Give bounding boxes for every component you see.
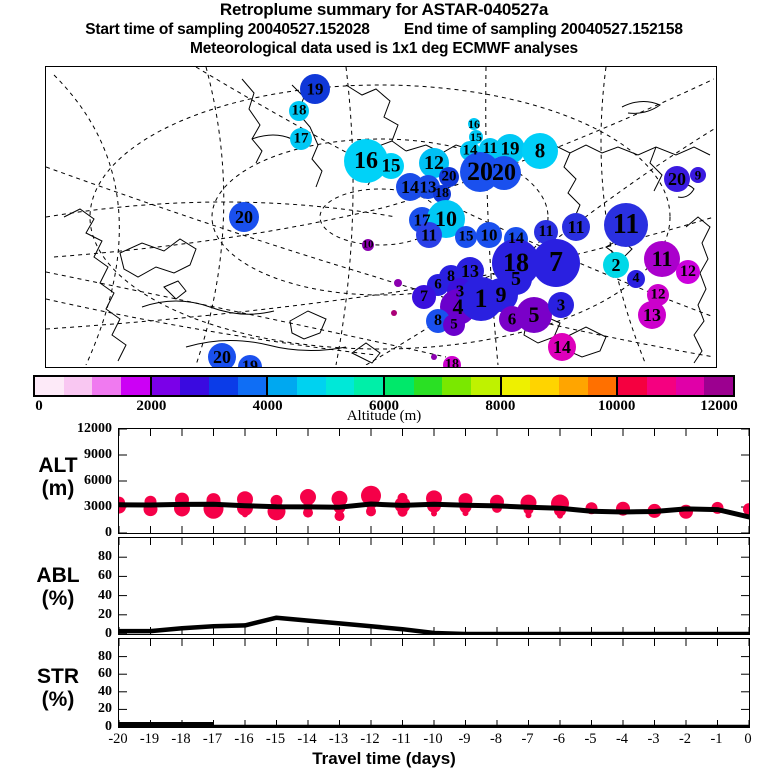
colorbar-segment [471, 377, 500, 395]
colorbar-segment [209, 377, 238, 395]
x-axis-tick: -3 [647, 731, 659, 748]
map-bubble-label: 5 [529, 304, 540, 326]
map-bubble-layer: 1918171615122014131816151411198202020920… [46, 67, 716, 367]
map-bubble-label: 3 [557, 297, 566, 314]
colorbar-segment [92, 377, 121, 395]
map-bubble-label: 5 [450, 318, 458, 333]
map-bubble [431, 354, 437, 360]
map-bubble-label: 15 [382, 157, 401, 176]
alt-scatter-point [242, 511, 248, 517]
map-bubble-label: 10 [435, 208, 457, 230]
altitude-colorbar[interactable] [33, 375, 735, 397]
y-axis-tick: 20 [56, 701, 112, 717]
colorbar-segment [121, 377, 150, 395]
colorbar-segment [530, 377, 559, 395]
map-bubble-label: 15 [459, 230, 474, 245]
sampling-time-line: Start time of sampling 20040527.152028 E… [0, 20, 768, 39]
colorbar-axis-label: Altitude (m) [0, 408, 768, 425]
y-axis-tick: 40 [56, 684, 112, 700]
colorbar-segment [500, 377, 531, 395]
str-chart-panel[interactable] [118, 638, 750, 728]
end-time-label: End time of sampling 20040527.152158 [404, 21, 683, 38]
map-bubble-label: 14 [401, 178, 419, 196]
colorbar-segment [354, 377, 383, 395]
y-axis-tick: 9000 [56, 447, 112, 463]
page-title: Retroplume summary for ASTAR-040527a [0, 0, 768, 20]
map-bubble-label: 5 [511, 269, 521, 289]
map-bubble-label: 20 [492, 161, 516, 185]
colorbar-segment [238, 377, 267, 395]
alt-scatter-point [431, 511, 437, 517]
x-axis-tick: -17 [203, 731, 222, 748]
map-bubble-label: 11 [652, 248, 673, 270]
map-bubble-label: 4 [633, 272, 640, 286]
map-bubble-label: 9 [695, 169, 702, 182]
map-bubble-label: 17 [294, 132, 309, 147]
colorbar-segment [383, 377, 414, 395]
colorbar-segment [266, 377, 297, 395]
y-axis-tick: 40 [56, 588, 112, 604]
map-bubble-label: 8 [447, 269, 455, 285]
map-bubble-label: 18 [292, 104, 307, 119]
map-bubble-label: 11 [613, 211, 639, 239]
colorbar-segment [414, 377, 443, 395]
title-block: Retroplume summary for ASTAR-040527a Sta… [0, 0, 768, 58]
alt-chart-panel[interactable] [118, 428, 750, 534]
map-bubble-label: 1 [475, 286, 488, 312]
map-bubble-label: 19 [307, 81, 324, 98]
colorbar-segment [150, 377, 181, 395]
alt-scatter-point [526, 512, 532, 518]
x-axis-tick: -12 [360, 731, 379, 748]
x-axis-tick: -16 [234, 731, 253, 748]
start-time-label: Start time of sampling 20040527.152028 [85, 21, 369, 38]
abl-plot-area [119, 538, 749, 634]
map-bubble-label: 8 [434, 313, 442, 329]
map-bubble-label: 15 [470, 131, 482, 143]
map-bubble-label: 4 [453, 296, 464, 318]
map-bubble-label: 14 [553, 338, 571, 356]
x-axis-tick-labels: -20-19-18-17-16-15-14-13-12-11-10-9-8-7-… [0, 731, 768, 749]
map-bubble-label: 9 [496, 284, 507, 306]
map-bubble-label: 6 [434, 278, 442, 293]
colorbar-segment [676, 377, 705, 395]
x-axis-tick: -10 [423, 731, 442, 748]
alt-scatter-point [366, 506, 376, 516]
map-bubble-label: 19 [501, 140, 520, 159]
x-axis-tick: -1 [710, 731, 722, 748]
map-bubble-label: 20 [668, 170, 686, 188]
colorbar-segment [326, 377, 355, 395]
x-axis-tick: -15 [266, 731, 285, 748]
alt-plot-area [119, 429, 749, 533]
y-axis-tick: 3000 [56, 499, 112, 515]
map-bubble-label: 20 [467, 159, 493, 185]
map-bubble-label: 6 [508, 311, 517, 328]
x-axis-tick: -5 [584, 731, 596, 748]
retroplume-map[interactable]: 1918171615122014131816151411198202020920… [45, 66, 717, 368]
map-bubble-label: 11 [538, 224, 553, 240]
colorbar-segment [704, 377, 733, 395]
y-axis-tick: 12000 [56, 421, 112, 437]
x-axis-tick: 0 [744, 731, 751, 748]
map-bubble-label: 13 [420, 179, 437, 196]
map-bubble-label: 14 [508, 231, 524, 247]
map-bubble-label: 8 [535, 141, 546, 162]
map-bubble-label: 20 [213, 348, 231, 366]
x-axis-tick: -2 [679, 731, 691, 748]
map-bubble-label: 11 [421, 227, 437, 244]
map-bubble-label: 10 [481, 227, 498, 244]
map-bubble-label: 16 [354, 149, 378, 173]
x-axis-tick: -19 [140, 731, 159, 748]
str-plot-area [119, 639, 749, 727]
map-bubble-label: 11 [482, 141, 497, 157]
colorbar-segment [35, 377, 64, 395]
y-axis-tick: 80 [56, 649, 112, 665]
map-bubble-label: 13 [643, 306, 661, 324]
x-axis-tick: -18 [171, 731, 190, 748]
x-axis-tick: -7 [521, 731, 533, 748]
colorbar-segment [588, 377, 617, 395]
y-axis-tick: 0 [56, 525, 112, 541]
map-bubble [391, 310, 397, 316]
map-bubble-label: 11 [567, 218, 584, 236]
map-bubble-label: 18 [445, 358, 459, 368]
map-bubble-label: 20 [235, 208, 253, 226]
x-axis-tick: -8 [490, 731, 502, 748]
x-axis-tick: -11 [392, 731, 411, 748]
map-bubble-label: 7 [549, 249, 563, 277]
colorbar-segment [647, 377, 676, 395]
map-bubble-label: 12 [651, 288, 666, 303]
map-bubble-label: 20 [442, 170, 457, 185]
colorbar-segment [616, 377, 647, 395]
alt-scatter-point [463, 510, 469, 516]
map-bubble-label: 13 [461, 262, 479, 280]
colorbar-segment [442, 377, 471, 395]
alt-scatter-point [335, 511, 345, 521]
x-axis-tick: -13 [329, 731, 348, 748]
alt-scatter-point [398, 507, 408, 517]
x-axis-tick: -6 [553, 731, 565, 748]
map-bubble-label: 18 [435, 187, 449, 201]
y-axis-tick: 60 [56, 568, 112, 584]
map-bubble-label: 2 [612, 256, 621, 274]
map-bubble-label: 19 [242, 359, 258, 368]
y-axis-tick: 0 [56, 626, 112, 642]
y-axis-tick: 0 [56, 719, 112, 735]
map-bubble-label: 16 [468, 118, 480, 130]
met-data-label: Meteorological data used is 1x1 deg ECMW… [0, 39, 768, 58]
x-axis-tick: -4 [616, 731, 628, 748]
map-bubble [394, 279, 402, 287]
y-axis-tick: 80 [56, 549, 112, 565]
alt-scatter-point [557, 513, 563, 519]
alt-scatter-point [179, 511, 185, 517]
map-bubble-label: 10 [363, 240, 374, 251]
y-axis-tick: 60 [56, 666, 112, 682]
map-bubble-label: 12 [680, 264, 696, 280]
y-axis-tick: 20 [56, 607, 112, 623]
x-axis-label: Travel time (days) [0, 749, 768, 769]
colorbar-segment [297, 377, 326, 395]
x-axis-tick: -9 [458, 731, 470, 748]
colorbar-segment [180, 377, 209, 395]
abl-chart-panel[interactable] [118, 537, 750, 635]
colorbar-segment [559, 377, 588, 395]
colorbar-segment [64, 377, 93, 395]
y-axis-tick: 6000 [56, 473, 112, 489]
map-bubble-label: 7 [420, 289, 428, 305]
x-axis-tick: -14 [297, 731, 316, 748]
